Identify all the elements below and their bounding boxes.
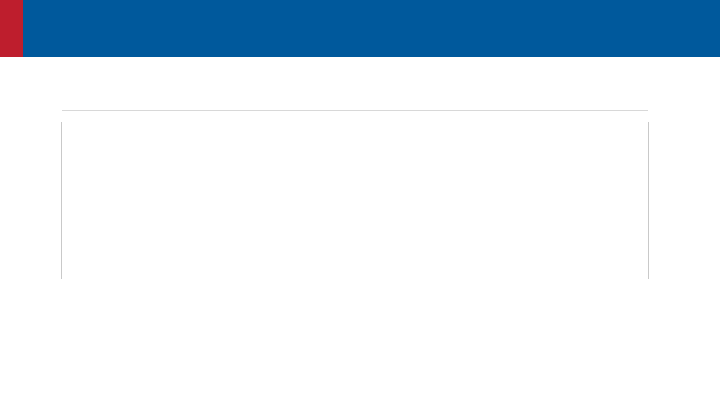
right-axis-line: [648, 122, 649, 279]
header-background: [23, 0, 720, 57]
plot-region: [62, 122, 648, 279]
series-lines: [62, 122, 648, 279]
zero-line: [62, 110, 648, 111]
x-axis: [0, 279, 720, 327]
page-header: [0, 0, 720, 57]
header-accent-bar: [0, 0, 23, 57]
